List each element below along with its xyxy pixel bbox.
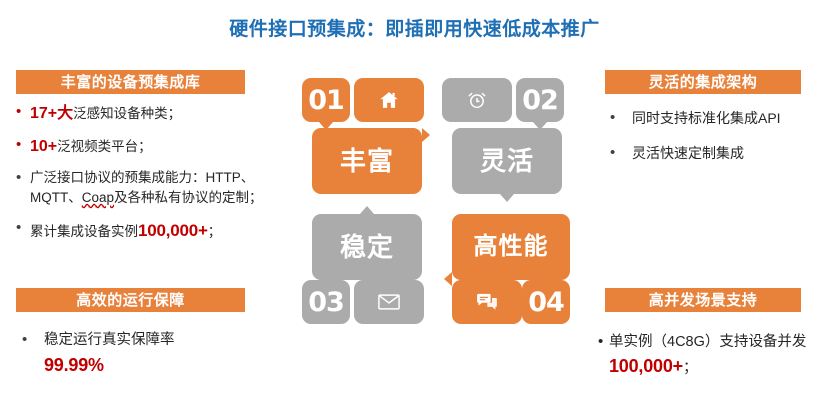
page-title: 硬件接口预集成：即插即用快速低成本推广: [0, 14, 829, 41]
highlight-number: 17+大: [30, 105, 73, 122]
bullet-dot-icon: •: [16, 218, 30, 238]
quadrant-01-label-box: 丰富: [312, 128, 422, 194]
alarm-icon: [467, 90, 487, 110]
list-item: • 广泛接口协议的预集成能力：HTTP、 MQTT、Coap及各种私有协议的定制…: [16, 168, 266, 209]
list-item-text-line2a: MQTT、: [30, 190, 82, 205]
bullet-dot-icon: •: [16, 168, 30, 188]
bullet-list-high-concurrency: • 单实例（4C8G）支持设备并发100,000+；: [598, 332, 826, 379]
quadrant-03-icon-box: [354, 280, 424, 324]
bullet-dot-icon: •: [610, 143, 632, 163]
list-item-text-line2c: 及各种私有协议的定制；: [114, 190, 263, 205]
list-item-body: 10+泛视频类平台；: [30, 135, 266, 159]
pointer-up-icon: [539, 272, 553, 280]
quadrant-03-label: 稳定: [340, 234, 394, 260]
bullet-dot-icon: •: [610, 108, 632, 128]
list-item-text: 泛感知设备种类；: [73, 106, 181, 121]
bullet-dot-icon: •: [16, 102, 30, 122]
list-item-body: 稳定运行真实保障率 99.99%: [44, 330, 252, 379]
list-item-text: 同时支持标准化集成API: [632, 108, 825, 129]
chat-icon: [476, 293, 498, 311]
list-item-body: 广泛接口协议的预集成能力：HTTP、 MQTT、Coap及各种私有协议的定制；: [30, 168, 266, 209]
diagram-quadrant-01[interactable]: 01 丰富: [302, 78, 432, 196]
list-item-suffix: ；: [683, 360, 698, 376]
list-item: • 10+泛视频类平台；: [16, 135, 266, 159]
quadrant-04-icon-box: [452, 280, 522, 324]
highlight-metric: 99.99%: [44, 355, 104, 375]
list-item: • 稳定运行真实保障率 99.99%: [22, 330, 252, 379]
home-icon: [378, 90, 400, 110]
list-item-text-line2-spellcheck: Coap: [82, 190, 114, 205]
bullet-list-ops-guarantee: • 稳定运行真实保障率 99.99%: [22, 330, 252, 379]
quadrant-02-number: 02: [522, 87, 558, 114]
quadrant-01-icon-box: [354, 78, 424, 122]
list-item-text: 累计集成设备实例: [30, 224, 138, 239]
section-header-rich-library: 丰富的设备预集成库: [16, 70, 245, 94]
highlight-number: 100,000+: [138, 221, 208, 240]
section-header-flexible-arch: 灵活的集成架构: [605, 70, 801, 94]
list-item: • 灵活快速定制集成: [610, 143, 825, 164]
list-item-text-line1: 广泛接口协议的预集成能力：HTTP、: [30, 170, 254, 185]
diagram-quadrant-04[interactable]: 高性能 04: [442, 206, 572, 324]
bullet-dot-icon: •: [598, 332, 609, 352]
quadrant-01-label: 丰富: [340, 148, 394, 174]
mail-icon: [378, 294, 400, 310]
pointer-right-icon: [422, 128, 430, 142]
list-item: • 累计集成设备实例100,000+；: [16, 218, 266, 244]
section-header-high-concurrency: 高并发场景支持: [605, 288, 801, 312]
bullet-list-rich-library: • 17+大泛感知设备种类； • 10+泛视频类平台； • 广泛接口协议的预集成…: [16, 102, 266, 252]
highlight-number: 10+: [30, 138, 57, 155]
slide-canvas: 硬件接口预集成：即插即用快速低成本推广 丰富的设备预集成库 • 17+大泛感知设…: [0, 0, 829, 415]
quadrant-01-number-box: 01: [302, 78, 350, 122]
diagram-quadrant-03[interactable]: 稳定 03: [302, 206, 432, 324]
diagram-quadrant-02[interactable]: 02 灵活: [442, 78, 572, 196]
list-item-body: 17+大泛感知设备种类；: [30, 102, 266, 126]
section-header-ops-guarantee: 高效的运行保障: [16, 288, 245, 312]
section-header-ops-guarantee-label: 高效的运行保障: [76, 293, 185, 308]
list-item: • 同时支持标准化集成API: [610, 108, 825, 129]
quadrant-04-number: 04: [528, 289, 564, 316]
quadrant-04-label: 高性能: [474, 235, 549, 259]
pointer-down-icon: [500, 194, 514, 202]
quadrant-diagram: 01 丰富: [300, 78, 572, 324]
pointer-up-icon: [360, 206, 374, 214]
list-item-text: 稳定运行真实保障率: [44, 332, 175, 348]
list-item-body: 累计集成设备实例100,000+；: [30, 218, 266, 244]
bullet-list-flexible-arch: • 同时支持标准化集成API • 灵活快速定制集成: [610, 108, 825, 178]
list-item-text: 泛视频类平台；: [57, 139, 152, 154]
highlight-number: 100,000+: [609, 356, 683, 376]
quadrant-01-number: 01: [308, 87, 344, 114]
list-item: • 单实例（4C8G）支持设备并发100,000+；: [598, 332, 826, 379]
pointer-up-icon: [319, 272, 333, 280]
bullet-dot-icon: •: [22, 330, 44, 350]
list-item: • 17+大泛感知设备种类；: [16, 102, 266, 126]
quadrant-03-label-box: 稳定: [312, 214, 422, 280]
list-item-suffix: ；: [208, 224, 222, 239]
list-item-text: 灵活快速定制集成: [632, 143, 825, 164]
quadrant-04-number-box: 04: [522, 280, 570, 324]
quadrant-04-label-box: 高性能: [452, 214, 570, 280]
section-header-high-concurrency-label: 高并发场景支持: [649, 293, 758, 308]
quadrant-02-label-box: 灵活: [452, 128, 562, 194]
list-item-body: 单实例（4C8G）支持设备并发100,000+；: [609, 332, 826, 379]
quadrant-03-number: 03: [308, 289, 344, 316]
section-header-rich-library-label: 丰富的设备预集成库: [61, 75, 201, 90]
list-item-text: 单实例（4C8G）支持设备并发: [609, 334, 806, 350]
section-header-flexible-arch-label: 灵活的集成架构: [649, 75, 758, 90]
quadrant-03-number-box: 03: [302, 280, 350, 324]
quadrant-02-number-box: 02: [516, 78, 564, 122]
quadrant-02-icon-box: [442, 78, 512, 122]
pointer-left-icon: [444, 272, 452, 286]
quadrant-02-label: 灵活: [480, 148, 534, 174]
bullet-dot-icon: •: [16, 135, 30, 155]
